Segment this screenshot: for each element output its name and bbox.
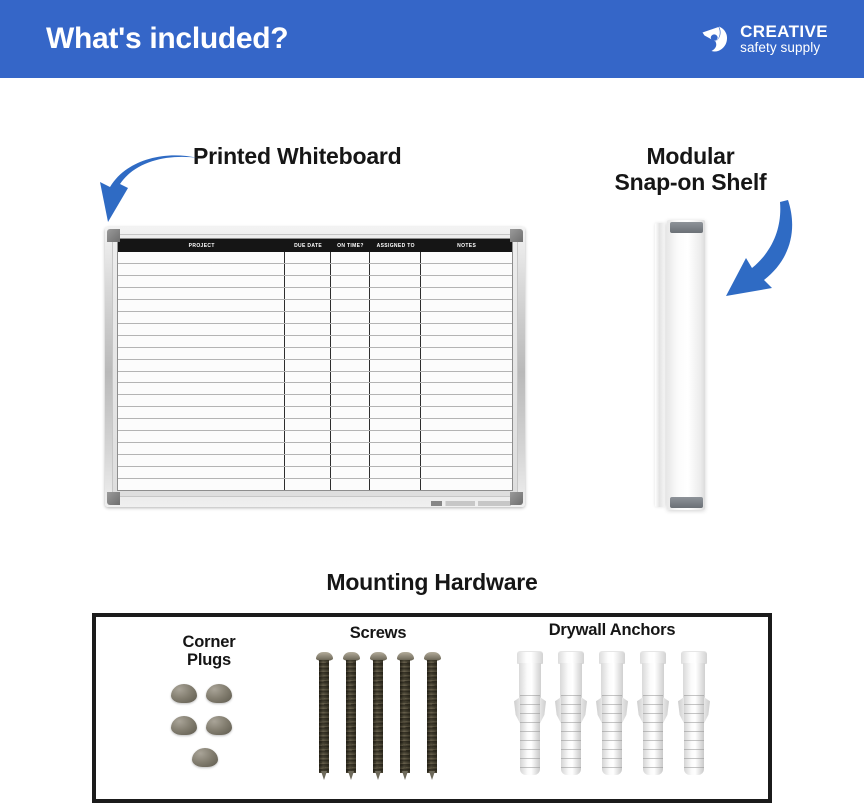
whiteboard-table-cell: [421, 252, 512, 263]
whiteboard-table-cell: [285, 383, 330, 394]
corner-plug: [171, 684, 197, 703]
whiteboard-table-cell: [421, 336, 512, 347]
whiteboard-table-row: [118, 383, 512, 395]
whiteboard-table-cell: [285, 443, 330, 454]
whiteboard-table-cell: [118, 443, 285, 454]
whiteboard-table-cell: [118, 276, 285, 287]
whiteboard-table-cell: [331, 264, 370, 275]
whiteboard-table-row: [118, 348, 512, 360]
hardware-group-title-drywall-anchors: Drywall Anchors: [494, 621, 730, 639]
whiteboard-table-cell: [370, 407, 421, 418]
whiteboard-table-cell: [421, 467, 512, 478]
whiteboard-table-cell: [118, 455, 285, 466]
whiteboard-table-row: [118, 467, 512, 479]
screw-row: [288, 652, 468, 780]
shelf-end-cap-bottom: [670, 497, 703, 508]
whiteboard-table-cell: [421, 407, 512, 418]
whiteboard-table-body: [118, 252, 512, 490]
whiteboard-table-cell: [370, 252, 421, 263]
whiteboard-table-cell: [118, 407, 285, 418]
whiteboard-table-cell: [331, 395, 370, 406]
whiteboard-table-cell: [370, 264, 421, 275]
whiteboard-table-cell: [370, 443, 421, 454]
drywall-anchor-row: [494, 651, 730, 775]
whiteboard-table-cell: [118, 395, 285, 406]
creative-safety-bird-icon: [701, 23, 731, 55]
section-title-mounting-hardware: Mounting Hardware: [252, 570, 612, 596]
shelf-back-rail: [655, 223, 665, 507]
whiteboard-column-header: NOTES: [421, 239, 512, 252]
corner-plug: [192, 748, 218, 767]
hardware-group-title-screws: Screws: [288, 624, 468, 642]
hardware-group-corner-plugs: Corner Plugs: [144, 633, 274, 783]
screw-tip: [429, 771, 435, 780]
shelf-label-line-1: Modular: [588, 144, 793, 170]
screw: [397, 652, 414, 780]
hardware-group-screws: Screws: [288, 624, 468, 780]
whiteboard-table-cell: [331, 467, 370, 478]
whiteboard-table-cell: [285, 288, 330, 299]
whiteboard-table-row: [118, 312, 512, 324]
whiteboard-table-cell: [331, 455, 370, 466]
whiteboard-table-cell: [370, 455, 421, 466]
whiteboard-table-cell: [118, 467, 285, 478]
screw: [316, 652, 333, 780]
whiteboard-table-cell: [285, 360, 330, 371]
whiteboard-printed-surface: PROJECTDUE DATEON TIME?ASSIGNED TONOTES: [117, 238, 513, 491]
drywall-anchor: [596, 651, 628, 775]
item-label-modular-snap-on-shelf: Modular Snap-on Shelf: [588, 144, 793, 196]
whiteboard-table-cell: [370, 288, 421, 299]
drywall-anchor: [678, 651, 710, 775]
whiteboard-table-cell: [370, 383, 421, 394]
brand-tagline: safety supply: [740, 41, 828, 55]
brand-logo: CREATIVE safety supply: [701, 23, 828, 55]
whiteboard-corner-bracket-bottom-left: [107, 492, 120, 505]
shelf-end-cap-top: [670, 222, 703, 233]
whiteboard-table-cell: [370, 479, 421, 490]
whiteboard-table-cell: [331, 479, 370, 490]
whiteboard-table-cell: [118, 360, 285, 371]
whiteboard-table-cell: [421, 288, 512, 299]
whiteboard-table-cell: [331, 443, 370, 454]
whiteboard-table-cell: [331, 360, 370, 371]
whiteboard-table-cell: [370, 395, 421, 406]
drywall-anchor: [637, 651, 669, 775]
screw-shaft: [400, 660, 410, 773]
whiteboard-table-cell: [421, 264, 512, 275]
corner-plug-cluster: [144, 678, 274, 783]
whiteboard-table-cell: [370, 276, 421, 287]
whiteboard-table-cell: [421, 312, 512, 323]
whiteboard-table-cell: [421, 300, 512, 311]
whiteboard-table-cell: [370, 312, 421, 323]
anchor-body: [643, 695, 663, 775]
whiteboard-table-cell: [421, 360, 512, 371]
whiteboard-table-cell: [331, 300, 370, 311]
printed-whiteboard-product: PROJECTDUE DATEON TIME?ASSIGNED TONOTES: [105, 227, 525, 507]
whiteboard-table-row: [118, 395, 512, 407]
whiteboard-table-cell: [118, 300, 285, 311]
corner-plug: [206, 684, 232, 703]
whiteboard-table-row: [118, 419, 512, 431]
whiteboard-table-cell: [421, 443, 512, 454]
whiteboard-frame: PROJECTDUE DATEON TIME?ASSIGNED TONOTES: [105, 227, 525, 507]
item-label-printed-whiteboard: Printed Whiteboard: [193, 144, 402, 170]
anchor-body: [520, 695, 540, 775]
screw-shaft: [346, 660, 356, 773]
whiteboard-table-cell: [331, 288, 370, 299]
whiteboard-table-cell: [285, 455, 330, 466]
whiteboard-table-cell: [331, 252, 370, 263]
whiteboard-table-cell: [118, 252, 285, 263]
anchor-body: [602, 695, 622, 775]
whiteboard-table-cell: [285, 312, 330, 323]
whiteboard-corner-bracket-top-left: [107, 229, 120, 242]
hardware-group-title-corner-plugs: Corner Plugs: [144, 633, 274, 669]
whiteboard-table-row: [118, 276, 512, 288]
whiteboard-table-cell: [118, 383, 285, 394]
modular-snap-on-shelf-product: [655, 220, 707, 510]
whiteboard-table-cell: [118, 264, 285, 275]
whiteboard-table-cell: [331, 372, 370, 383]
whiteboard-table-cell: [421, 372, 512, 383]
whiteboard-table-cell: [285, 419, 330, 430]
whiteboard-column-header: PROJECT: [118, 239, 285, 252]
whiteboard-table-cell: [285, 336, 330, 347]
corner-plug: [171, 716, 197, 735]
brand-text: CREATIVE safety supply: [740, 23, 828, 55]
whiteboard-table-cell: [370, 300, 421, 311]
whiteboard-table-cell: [118, 336, 285, 347]
shelf-label-line-2: Snap-on Shelf: [588, 170, 793, 196]
screw-tip: [375, 771, 381, 780]
whiteboard-table-cell: [285, 431, 330, 442]
whiteboard-table-cell: [331, 419, 370, 430]
whiteboard-table-row: [118, 288, 512, 300]
whiteboard-table-cell: [285, 479, 330, 490]
whiteboard-table-row: [118, 252, 512, 264]
screw-tip: [348, 771, 354, 780]
brand-name: CREATIVE: [740, 23, 828, 40]
whiteboard-table-row: [118, 360, 512, 372]
whiteboard-table-cell: [285, 264, 330, 275]
whiteboard-table-cell: [118, 372, 285, 383]
whiteboard-table-row: [118, 264, 512, 276]
whiteboard-table-row: [118, 431, 512, 443]
whiteboard-table-cell: [118, 312, 285, 323]
whiteboard-table-row: [118, 324, 512, 336]
whiteboard-table-cell: [331, 336, 370, 347]
whiteboard-table-cell: [370, 467, 421, 478]
whiteboard-table-cell: [285, 407, 330, 418]
whiteboard-table-cell: [285, 467, 330, 478]
whiteboard-table-row: [118, 479, 512, 490]
whiteboard-table-cell: [331, 407, 370, 418]
header-bar: What's included? CREATIVE safety supply: [0, 0, 864, 78]
whiteboard-table-cell: [421, 419, 512, 430]
whiteboard-table-cell: [118, 348, 285, 359]
whiteboard-table-cell: [331, 276, 370, 287]
whiteboard-table-row: [118, 300, 512, 312]
screw: [343, 652, 360, 780]
whiteboard-table-cell: [331, 383, 370, 394]
whiteboard-table-cell: [370, 324, 421, 335]
whiteboard-table-cell: [285, 324, 330, 335]
whiteboard-table-cell: [285, 300, 330, 311]
whiteboard-table-cell: [331, 348, 370, 359]
whiteboard-table-cell: [285, 372, 330, 383]
screw-tip: [402, 771, 408, 780]
whiteboard-table-cell: [370, 360, 421, 371]
whiteboard-table-cell: [370, 419, 421, 430]
whiteboard-table-cell: [331, 324, 370, 335]
whiteboard-table-cell: [285, 276, 330, 287]
page-title: What's included?: [46, 24, 288, 54]
whiteboard-table-cell: [118, 431, 285, 442]
whiteboard-table-cell: [421, 479, 512, 490]
screw: [424, 652, 441, 780]
whiteboard-table-cell: [421, 383, 512, 394]
whiteboard-corner-bracket-top-right: [510, 229, 523, 242]
whiteboard-table-cell: [421, 348, 512, 359]
whiteboard-table-row: [118, 407, 512, 419]
whiteboard-brand-watermark: [431, 501, 511, 506]
whiteboard-table-cell: [118, 419, 285, 430]
whiteboard-table-cell: [421, 395, 512, 406]
corner-plugs-title-line-1: Corner: [144, 633, 274, 651]
whiteboard-column-header: ON TIME?: [331, 239, 370, 252]
included-items-infographic: What's included? CREATIVE safety supply …: [0, 0, 864, 810]
screw-shaft: [319, 660, 329, 773]
whiteboard-table-cell: [331, 312, 370, 323]
whiteboard-table-cell: [285, 252, 330, 263]
whiteboard-table-row: [118, 372, 512, 384]
whiteboard-table-row: [118, 455, 512, 467]
whiteboard-table-cell: [370, 372, 421, 383]
screw-tip: [321, 771, 327, 780]
whiteboard-table-cell: [118, 479, 285, 490]
shelf-body: [667, 220, 705, 510]
corner-plug: [206, 716, 232, 735]
whiteboard-table-cell: [118, 288, 285, 299]
whiteboard-table-row: [118, 336, 512, 348]
whiteboard-table-cell: [118, 324, 285, 335]
hardware-group-drywall-anchors: Drywall Anchors: [494, 621, 730, 775]
drywall-anchor: [514, 651, 546, 775]
anchor-body: [684, 695, 704, 775]
whiteboard-table-cell: [285, 348, 330, 359]
screw: [370, 652, 387, 780]
whiteboard-table-header-row: PROJECTDUE DATEON TIME?ASSIGNED TONOTES: [118, 239, 512, 252]
whiteboard-table-cell: [331, 431, 370, 442]
drywall-anchor: [555, 651, 587, 775]
whiteboard-table-cell: [370, 431, 421, 442]
whiteboard-table-cell: [421, 455, 512, 466]
mounting-hardware-box: Corner Plugs Screws Drywall Anchors: [92, 613, 772, 803]
whiteboard-table-cell: [285, 395, 330, 406]
screw-shaft: [373, 660, 383, 773]
whiteboard-table-cell: [421, 431, 512, 442]
whiteboard-corner-bracket-bottom-right: [510, 492, 523, 505]
whiteboard-column-header: ASSIGNED TO: [370, 239, 421, 252]
anchor-body: [561, 695, 581, 775]
whiteboard-column-header: DUE DATE: [285, 239, 330, 252]
whiteboard-table-cell: [370, 348, 421, 359]
curved-arrow-shelf-icon: [718, 196, 800, 304]
whiteboard-table-row: [118, 443, 512, 455]
corner-plugs-title-line-2: Plugs: [144, 651, 274, 669]
curved-arrow-whiteboard-icon: [98, 152, 202, 228]
whiteboard-table-cell: [370, 336, 421, 347]
whiteboard-table-cell: [421, 324, 512, 335]
whiteboard-table-cell: [421, 276, 512, 287]
screw-shaft: [427, 660, 437, 773]
